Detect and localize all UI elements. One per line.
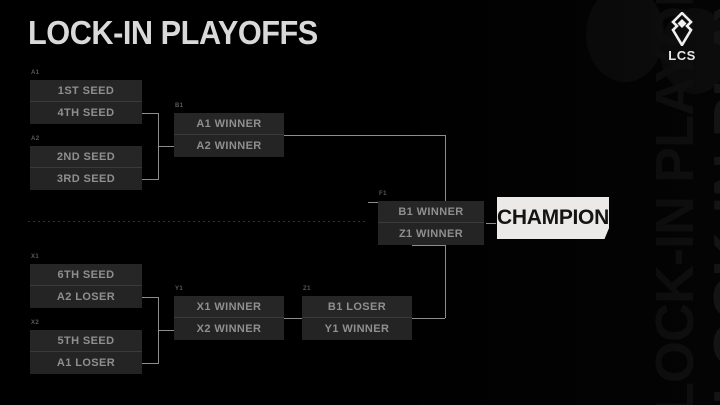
match-code-final: F1 xyxy=(379,191,387,197)
match-final-slot-2[interactable]: Z1 WINNER xyxy=(378,223,484,245)
match-code-z1: Z1 xyxy=(303,286,311,292)
match-y1-slot-2[interactable]: X2 WINNER xyxy=(174,318,284,340)
match-x1-slot-2[interactable]: A2 LOSER xyxy=(30,286,142,308)
connector-z1-to-final xyxy=(412,245,446,246)
connector-a1-out xyxy=(142,113,158,114)
match-b1-slot-1[interactable]: A1 WINNER xyxy=(174,113,284,135)
connector-b1-out xyxy=(284,135,445,136)
connector-y1-to-z1 xyxy=(284,318,302,319)
connector-b1-drop xyxy=(445,135,446,202)
match-code-b1: B1 xyxy=(175,103,183,109)
lcs-emblem-icon xyxy=(667,12,697,46)
match-code-a1: A1 xyxy=(31,70,39,76)
match-b1-slot-2[interactable]: A2 WINNER xyxy=(174,135,284,157)
match-final-slot-1[interactable]: B1 WINNER xyxy=(378,201,484,223)
lcs-wordmark: LCS xyxy=(668,48,696,63)
match-y1-slot-1[interactable]: X1 WINNER xyxy=(174,296,284,318)
bracket-divider xyxy=(28,221,366,222)
match-code-x1: X1 xyxy=(31,254,39,260)
match-final[interactable]: F1 B1 WINNER Z1 WINNER xyxy=(378,201,484,245)
match-y1[interactable]: Y1 X1 WINNER X2 WINNER xyxy=(174,296,284,340)
match-a2-slot-1[interactable]: 2ND SEED xyxy=(30,146,142,168)
lcs-logo: LCS xyxy=(658,12,706,68)
match-x1-slot-1[interactable]: 6TH SEED xyxy=(30,264,142,286)
match-a1[interactable]: A1 1ST SEED 4TH SEED xyxy=(30,80,142,124)
match-b1[interactable]: B1 A1 WINNER A2 WINNER xyxy=(174,113,284,157)
connector-x2-out xyxy=(142,363,158,364)
connector-x1-out xyxy=(142,297,158,298)
page-title: LOCK-IN PLAYOFFS xyxy=(28,16,318,49)
champion-box[interactable]: CHAMPION xyxy=(497,197,609,239)
connector-a2-out xyxy=(142,179,158,180)
connector-x-to-y1 xyxy=(158,330,174,331)
connector-final-to-champion xyxy=(486,223,496,224)
connector-z1-rise xyxy=(445,245,446,318)
match-z1-slot-2[interactable]: Y1 WINNER xyxy=(302,318,412,340)
match-x1[interactable]: X1 6TH SEED A2 LOSER xyxy=(30,264,142,308)
match-x2[interactable]: X2 5TH SEED A1 LOSER xyxy=(30,330,142,374)
match-z1-slot-1[interactable]: B1 LOSER xyxy=(302,296,412,318)
connector-a-to-b1 xyxy=(158,146,174,147)
match-code-a2: A2 xyxy=(31,136,39,142)
match-z1[interactable]: Z1 B1 LOSER Y1 WINNER xyxy=(302,296,412,340)
connector-z1-out xyxy=(412,318,445,319)
match-code-x2: X2 xyxy=(31,320,39,326)
match-code-y1: Y1 xyxy=(175,286,183,292)
playoff-bracket: A1 1ST SEED 4TH SEED A2 2ND SEED 3RD SEE… xyxy=(0,0,720,405)
match-a1-slot-1[interactable]: 1ST SEED xyxy=(30,80,142,102)
match-x2-slot-2[interactable]: A1 LOSER xyxy=(30,352,142,374)
match-a2[interactable]: A2 2ND SEED 3RD SEED xyxy=(30,146,142,190)
match-a2-slot-2[interactable]: 3RD SEED xyxy=(30,168,142,190)
match-x2-slot-1[interactable]: 5TH SEED xyxy=(30,330,142,352)
match-a1-slot-2[interactable]: 4TH SEED xyxy=(30,102,142,124)
